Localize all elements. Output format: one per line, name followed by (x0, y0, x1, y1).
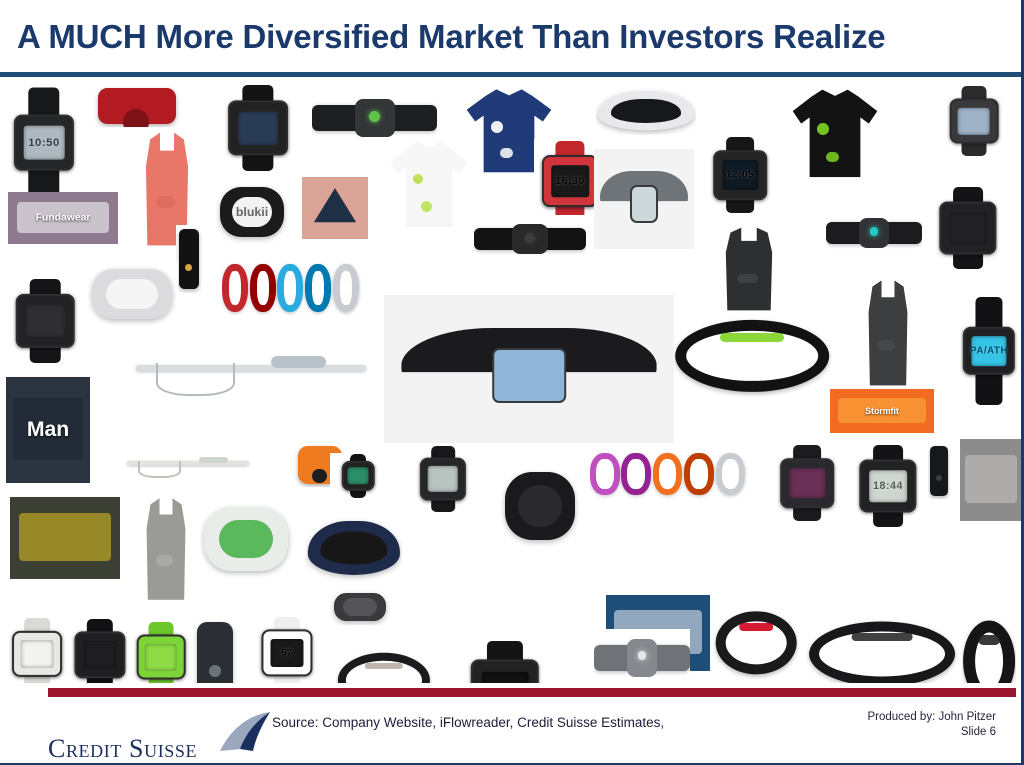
stormfit-orange-band: Stormfit (830, 389, 934, 433)
device-brand-label: blukii (236, 205, 268, 219)
samsung-gear-smartwatch: 12:05 (700, 135, 780, 215)
promo-label: Fundawear (36, 213, 91, 224)
google-glass-eyewear (126, 327, 376, 417)
garmin-purple-gps-watch (768, 443, 846, 523)
produced-by-block: Produced by: John Pitzer Slide 6 (736, 710, 996, 740)
apple-watch-concept-render (384, 295, 674, 443)
page-title: A MUCH More Diversified Market Than Inve… (17, 17, 1007, 57)
gps-watch-1844: 18:44 (846, 443, 930, 529)
bodymedia-armband (594, 629, 690, 683)
polar-running-watch (404, 445, 482, 513)
touchscreen-glove (960, 439, 1022, 521)
square-watch-leather (6, 617, 68, 683)
black-sport-watch-right (926, 185, 1010, 271)
slide-canvas: A MUCH More Diversified Market Than Inve… (0, 0, 1024, 765)
white-wearable-handheld (122, 443, 254, 487)
adidas-heart-rate-strap (474, 215, 586, 263)
logo-wordmark: Credit Suisse (48, 734, 197, 764)
fundawear-promo: Fundawear (8, 192, 118, 244)
black-chronograph-watch (68, 617, 132, 683)
green-white-flex-cuff (198, 499, 294, 579)
g-shock-digital-watch: 10:50 (8, 85, 80, 200)
nike-fuelband-led (672, 315, 832, 397)
wearable-square-watch-left (6, 277, 84, 365)
head-mounted-display-render (594, 149, 694, 249)
footer-divider (48, 688, 1016, 697)
grey-smart-vest (852, 277, 924, 389)
device-display-text: PA/ATH (970, 346, 1008, 357)
promo-label: Stormfit (865, 406, 899, 416)
smart-tshirt-black-green (790, 85, 880, 180)
sports-bra-hr-monitor (706, 225, 792, 313)
red-clip-tracker (88, 85, 186, 127)
device-display-text: 16:30 (555, 175, 584, 187)
skin-patch-sensor (302, 177, 368, 239)
pedometer-color-set (590, 447, 756, 501)
neck-loop-wearable (336, 649, 432, 683)
fitness-armband-teal-led (826, 209, 922, 257)
slide-footer: Credit Suisse Source: Company Website, i… (0, 700, 1024, 765)
usb-sensor-stick (928, 443, 950, 499)
white-display-watch: 67 (256, 615, 318, 683)
white-ergonomic-sensor (86, 263, 178, 325)
device-display-text: 12:05 (726, 170, 754, 181)
product-collage: 10:50 (0, 77, 1024, 683)
sail-logo-icon (216, 711, 274, 757)
baby-onesie-monitor (388, 137, 470, 229)
red-black-sport-band (714, 607, 798, 679)
circular-clip-sensor (330, 589, 390, 625)
yellow-black-safety-vest (10, 497, 120, 579)
device-display-text: 10:50 (28, 137, 60, 149)
sony-smartwatch-band (212, 83, 304, 173)
device-display-text: 67 (281, 648, 293, 659)
heart-rate-sport-watch-blue: PA/ATH (958, 295, 1020, 407)
slide-header: A MUCH More Diversified Market Than Inve… (0, 0, 1024, 76)
clip-on-activity-tracker (176, 225, 202, 293)
green-smart-watch (130, 621, 192, 683)
mannequin-smart-suit: Man (6, 377, 90, 483)
produced-by-text: Produced by: John Pitzer (736, 710, 996, 725)
black-rounded-sensor-box (500, 463, 580, 549)
ski-goggles-white (596, 87, 696, 135)
jawbone-up-band-set (222, 257, 368, 319)
fitbit-flex-black (962, 615, 1016, 683)
pulse-oximeter-clip (192, 617, 238, 683)
smartwatch-app-grid (462, 639, 548, 683)
slide-number: Slide 6 (736, 725, 996, 740)
grey-heated-vest (130, 495, 202, 603)
device-display-text: 18:44 (873, 480, 903, 492)
promo-label: Man (27, 418, 69, 442)
credit-suisse-logo: Credit Suisse (48, 718, 298, 762)
black-cuff-watch (330, 453, 386, 499)
motorcycle-goggles-blue (306, 515, 402, 581)
jawbone-up-black-band (806, 617, 958, 683)
metal-smartwatch-silver (932, 85, 1016, 157)
blukii-sensor-puck: blukii (216, 181, 288, 243)
